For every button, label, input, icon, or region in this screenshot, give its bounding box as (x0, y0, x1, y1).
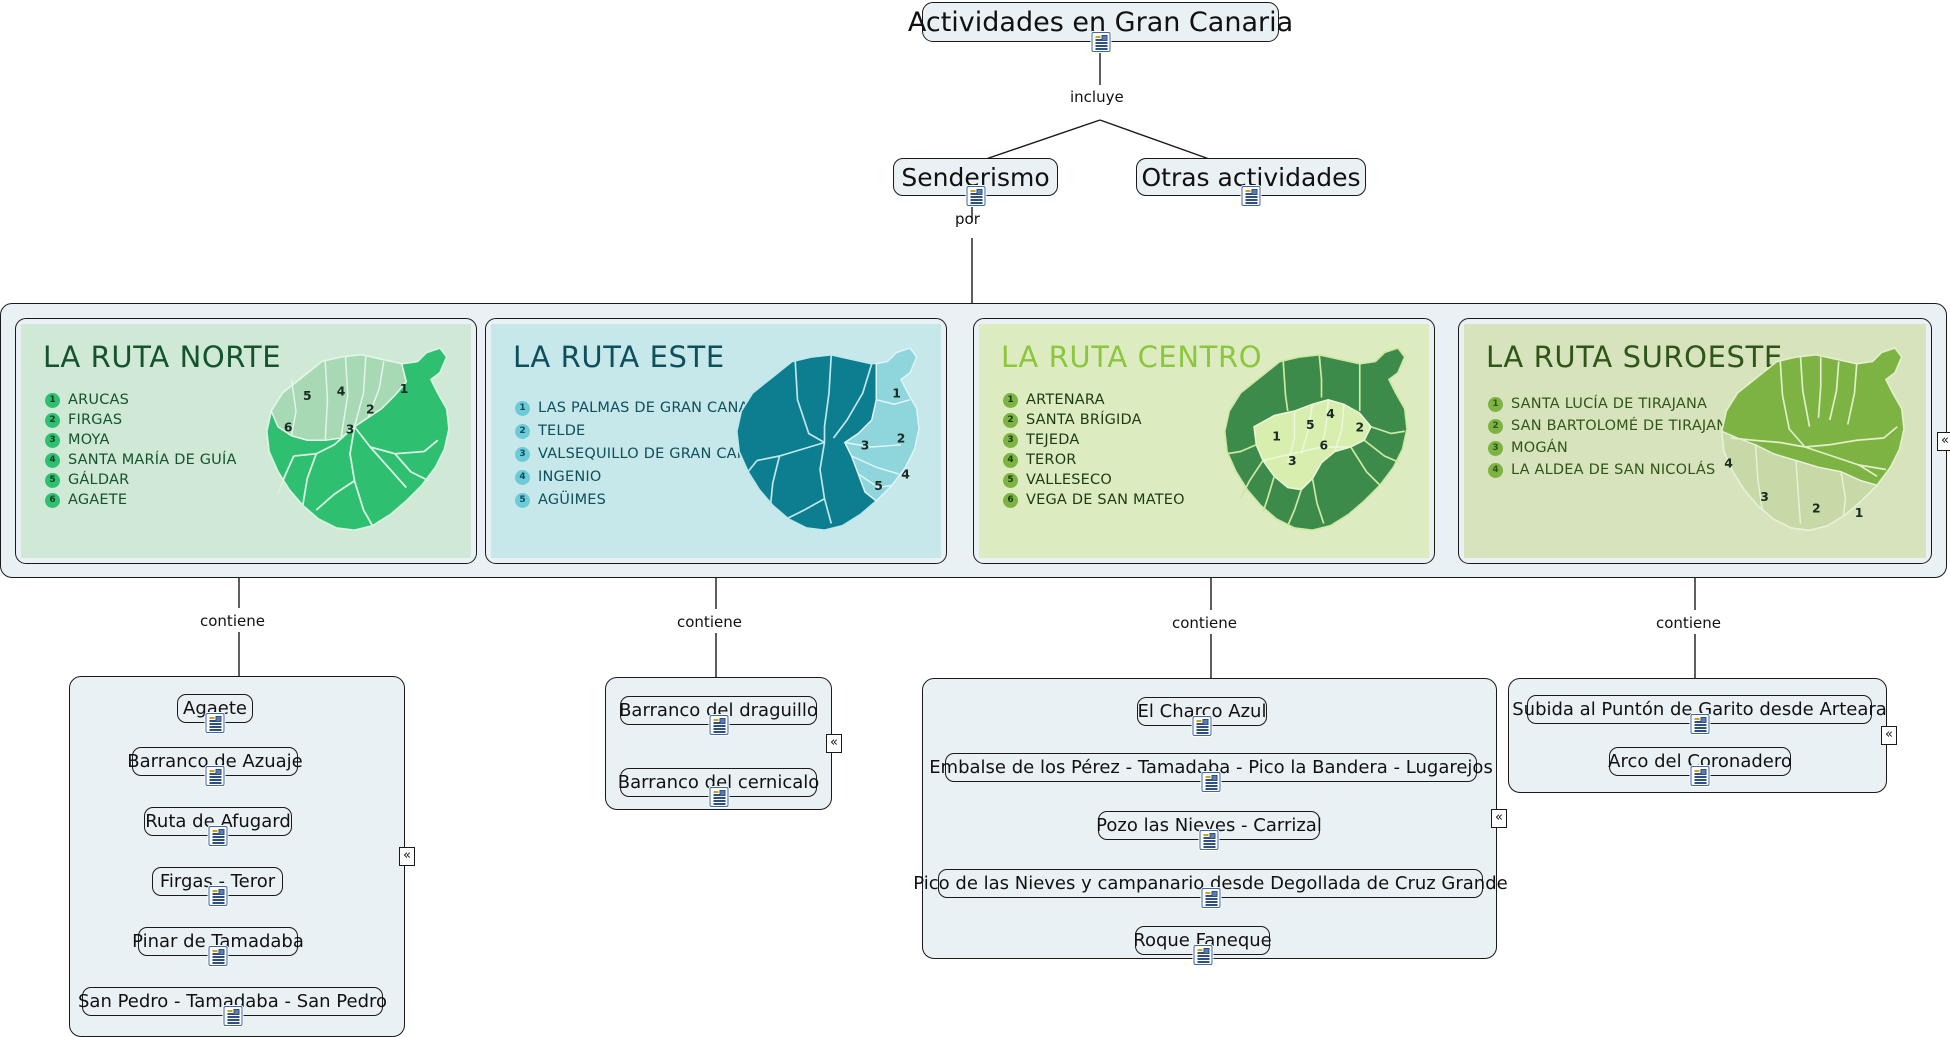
map-number: 4 (337, 384, 346, 398)
collapse-group-suroeste[interactable]: « (1881, 726, 1897, 745)
edge-label-por: por (955, 210, 980, 228)
trail-node[interactable]: Pozo las Nieves - Carrizal (1098, 811, 1320, 840)
map-svg: 4 5 2 1 6 3 (1193, 330, 1423, 555)
map-svg: 4 3 2 1 (1690, 330, 1920, 555)
bullet-number: 2 (45, 413, 60, 428)
note-icon[interactable] (1691, 766, 1710, 786)
collapse-group-centro[interactable]: « (1491, 809, 1507, 828)
bullet-number: 6 (1003, 493, 1018, 508)
node-senderismo[interactable]: Senderismo (893, 158, 1058, 196)
map-gran-canaria-norte: 5 4 1 2 3 6 (235, 330, 465, 555)
map-number: 2 (366, 402, 375, 416)
map-number: 1 (892, 387, 901, 401)
map-gran-canaria-este: 1 2 3 4 5 (705, 330, 935, 555)
trail-node[interactable]: Barranco del draguillo (620, 696, 817, 725)
list-item: 1 ARTENARA (1003, 392, 1185, 408)
municipality-label: VEGA DE SAN MATEO (1026, 492, 1185, 508)
trail-node[interactable]: Barranco de Azuaje (132, 747, 298, 776)
note-icon[interactable] (1200, 830, 1219, 850)
map-number: 1 (1855, 506, 1864, 520)
municipality-label: SANTA MARÍA DE GUÍA (68, 452, 237, 468)
trail-node[interactable]: San Pedro - Tamadaba - San Pedro (82, 987, 383, 1016)
map-number: 5 (1306, 418, 1315, 432)
note-icon[interactable] (966, 186, 985, 206)
bullet-number: 6 (45, 493, 60, 508)
bullet-number: 4 (515, 470, 530, 485)
trail-node[interactable]: Pinar de Tamadaba (138, 927, 298, 956)
trail-node[interactable]: El Charco Azul (1137, 697, 1267, 726)
map-svg: 1 2 3 4 5 (705, 330, 935, 555)
map-number: 6 (1319, 438, 1328, 452)
bullet-number: 5 (45, 473, 60, 488)
note-icon[interactable] (709, 715, 728, 735)
list-item: 4 TEROR (1003, 452, 1185, 468)
map-number: 3 (861, 438, 870, 452)
note-icon[interactable] (206, 766, 225, 786)
route-title-este: LA RUTA ESTE (513, 340, 725, 374)
list-item: 3 MOYA (45, 432, 237, 448)
map-number: 6 (284, 420, 293, 434)
collapse-routes[interactable]: « (1937, 432, 1950, 451)
trail-node[interactable]: Firgas - Teror (152, 867, 283, 896)
note-icon[interactable] (208, 886, 227, 906)
trail-node[interactable]: Agaete (177, 694, 253, 723)
map-number: 1 (1272, 429, 1281, 443)
route-card-norte[interactable]: LA RUTA NORTE 1 ARUCAS 2 FIRGAS 3 MOYA (15, 318, 477, 564)
route-card-centro-inner: LA RUTA CENTRO 1 ARTENARA 2 SANTA BRÍGID… (979, 324, 1429, 558)
route-card-este[interactable]: LA RUTA ESTE 1 LAS PALMAS DE GRAN CANARI… (485, 318, 947, 564)
node-otras-actividades[interactable]: Otras actividades (1136, 158, 1366, 196)
municipality-label: ARTENARA (1026, 392, 1105, 408)
route-card-norte-inner: LA RUTA NORTE 1 ARUCAS 2 FIRGAS 3 MOYA (21, 324, 471, 558)
trail-node[interactable]: Ruta de Afugard (144, 807, 292, 836)
note-icon[interactable] (1193, 945, 1212, 965)
bullet-number: 1 (1003, 393, 1018, 408)
group-box-centro: El Charco Azul Embalse de los Pérez - Ta… (922, 678, 1497, 959)
municipality-label: SANTA LUCÍA DE TIRAJANA (1511, 396, 1707, 412)
map-svg: 5 4 1 2 3 6 (235, 330, 465, 555)
bullet-number: 2 (1003, 413, 1018, 428)
note-icon[interactable] (709, 787, 728, 807)
map-number: 5 (874, 479, 883, 493)
route-card-centro[interactable]: LA RUTA CENTRO 1 ARTENARA 2 SANTA BRÍGID… (973, 318, 1435, 564)
edge-label-contiene-este: contiene (677, 613, 742, 631)
municipality-label: INGENIO (538, 469, 601, 485)
bullet-number: 3 (45, 433, 60, 448)
trail-node[interactable]: Subida al Puntón de Garito desde Arteara (1527, 695, 1872, 724)
route-municipality-list-norte: 1 ARUCAS 2 FIRGAS 3 MOYA 4 SANTA MARÍA D… (45, 392, 237, 512)
route-municipality-list-centro: 1 ARTENARA 2 SANTA BRÍGIDA 3 TEJEDA 4 TE… (1003, 392, 1185, 512)
trail-node[interactable]: Pico de las Nieves y campanario desde De… (938, 869, 1483, 898)
list-item: 3 TEJEDA (1003, 432, 1185, 448)
edge-label-contiene-norte: contiene (200, 612, 265, 630)
bullet-number: 2 (1488, 419, 1503, 434)
note-icon[interactable] (1202, 772, 1221, 792)
trail-node[interactable]: Embalse de los Pérez - Tamadaba - Pico l… (945, 753, 1477, 782)
bullet-number: 5 (1003, 473, 1018, 488)
bullet-number: 3 (515, 447, 530, 462)
municipality-label: LA ALDEA DE SAN NICOLÁS (1511, 462, 1715, 478)
list-item: 6 VEGA DE SAN MATEO (1003, 492, 1185, 508)
map-number: 3 (1760, 490, 1769, 504)
map-number: 1 (400, 382, 409, 396)
trail-node[interactable]: Barranco del cernicalo (620, 768, 817, 797)
municipality-label: TEJEDA (1026, 432, 1080, 448)
edge-label-contiene-suroeste: contiene (1656, 614, 1721, 632)
list-item: 4 SANTA MARÍA DE GUÍA (45, 452, 237, 468)
municipality-label: SANTA BRÍGIDA (1026, 412, 1142, 428)
list-item: 6 AGAETE (45, 492, 237, 508)
list-item: 5 VALLESECO (1003, 472, 1185, 488)
bullet-number: 4 (1488, 463, 1503, 478)
map-number: 5 (303, 389, 312, 403)
route-card-este-inner: LA RUTA ESTE 1 LAS PALMAS DE GRAN CANARI… (491, 324, 941, 558)
route-card-suroeste[interactable]: LA RUTA SUROESTE 1 SANTA LUCÍA DE TIRAJA… (1458, 318, 1932, 564)
bullet-number: 3 (1488, 441, 1503, 456)
map-number: 4 (1326, 407, 1335, 421)
list-item: 2 SANTA BRÍGIDA (1003, 412, 1185, 428)
map-number: 3 (346, 423, 355, 437)
bullet-number: 1 (515, 401, 530, 416)
municipality-label: ARUCAS (68, 392, 129, 408)
bullet-number: 4 (45, 453, 60, 468)
municipality-label: FIRGAS (68, 412, 122, 428)
note-icon[interactable] (209, 946, 228, 966)
group-box-norte: Agaete Barranco de Azuaje Ruta de Afugar… (69, 676, 405, 1037)
map-number: 3 (1288, 454, 1297, 468)
note-icon[interactable] (206, 713, 225, 733)
note-icon[interactable] (1242, 186, 1261, 206)
bullet-number: 2 (515, 424, 530, 439)
map-gran-canaria-centro: 4 5 2 1 6 3 (1193, 330, 1423, 555)
trail-node[interactable]: Roque Faneque (1135, 926, 1270, 955)
collapse-group-norte[interactable]: « (399, 847, 415, 866)
municipality-label: VALLESECO (1026, 472, 1112, 488)
municipality-label: GÁLDAR (68, 472, 129, 488)
edge-label-incluye: incluye (1070, 88, 1124, 106)
municipality-label: TELDE (538, 423, 585, 439)
municipality-label: MOGÁN (1511, 440, 1568, 456)
municipality-label: AGÜIMES (538, 492, 606, 508)
note-icon[interactable] (209, 826, 228, 846)
note-icon[interactable] (223, 1006, 242, 1026)
list-item: 2 FIRGAS (45, 412, 237, 428)
list-item: 5 GÁLDAR (45, 472, 237, 488)
note-icon[interactable] (1690, 714, 1709, 734)
map-number: 2 (1812, 501, 1821, 515)
note-icon[interactable] (1201, 888, 1220, 908)
map-gran-canaria-suroeste: 4 3 2 1 (1690, 330, 1920, 555)
collapse-group-este[interactable]: « (826, 734, 842, 753)
routes-container: LA RUTA NORTE 1 ARUCAS 2 FIRGAS 3 MOYA (0, 303, 1947, 578)
bullet-number: 4 (1003, 453, 1018, 468)
bullet-number: 5 (515, 493, 530, 508)
group-box-este: Barranco del draguillo Barranco del cern… (605, 677, 832, 810)
trail-node[interactable]: Arco del Coronadero (1609, 747, 1791, 776)
bullet-number: 1 (45, 393, 60, 408)
note-icon[interactable] (1091, 32, 1110, 52)
bullet-number: 3 (1003, 433, 1018, 448)
group-box-suroeste: Subida al Puntón de Garito desde Arteara… (1508, 678, 1887, 793)
municipality-label: TEROR (1026, 452, 1077, 468)
map-number: 2 (1355, 420, 1364, 434)
municipality-label: MOYA (68, 432, 110, 448)
edge-label-contiene-centro: contiene (1172, 614, 1237, 632)
municipality-label: AGAETE (68, 492, 127, 508)
route-card-suroeste-inner: LA RUTA SUROESTE 1 SANTA LUCÍA DE TIRAJA… (1464, 324, 1926, 558)
bullet-number: 1 (1488, 397, 1503, 412)
map-number: 4 (901, 468, 910, 482)
map-number: 4 (1724, 456, 1733, 470)
mindmap-canvas: Actividades en Gran Canaria incluye Send… (0, 0, 1950, 1037)
note-icon[interactable] (1193, 716, 1212, 736)
map-number: 2 (897, 432, 906, 446)
list-item: 1 ARUCAS (45, 392, 237, 408)
root-node[interactable]: Actividades en Gran Canaria (922, 2, 1279, 42)
